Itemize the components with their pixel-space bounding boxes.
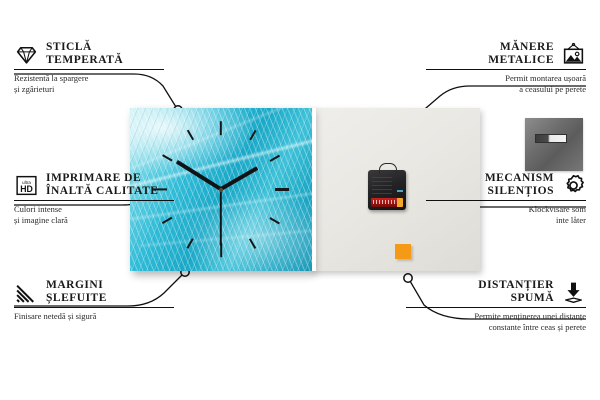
diamond-icon <box>14 42 39 67</box>
sub-line-1: Finisare netedă și sigură <box>14 311 96 321</box>
title-line-1: MĂNERE <box>500 41 554 53</box>
callout-rule <box>426 69 586 70</box>
callout-title: MARGINI ȘLEFUITE <box>46 279 107 305</box>
polished-edge-icon <box>14 280 39 305</box>
sub-line-2: și imagine clară <box>14 215 68 225</box>
clock-tick <box>220 121 222 135</box>
clock-tick <box>270 155 280 162</box>
title-line-2: ȘLEFUITE <box>46 292 107 304</box>
callout-hd-print: ultra HD IMPRIMARE DE ÎNALTĂ CALITATE Cu… <box>14 172 174 225</box>
sub-line-1: Culori intense <box>14 204 62 214</box>
sub-line-2: constante între ceas și perete <box>489 322 586 332</box>
callout-title: MĂNERE METALICE <box>488 41 554 67</box>
callout-polished-edges: MARGINI ȘLEFUITE Finisare netedă și sigu… <box>14 279 174 322</box>
sub-line-1: Klockvisare som <box>529 204 586 214</box>
clock-hour-hand <box>220 167 258 192</box>
infographic-canvas: STICLĂ TEMPERATĂ Rezistentă la spargere … <box>0 0 600 400</box>
sub-line-2: și zgârieturi <box>14 84 54 94</box>
callout-tempered-glass: STICLĂ TEMPERATĂ Rezistentă la spargere … <box>14 41 164 94</box>
clock-hub <box>219 188 223 192</box>
title-line-2: ÎNALTĂ CALITATE <box>46 185 158 197</box>
sub-line-1: Permit montarea ușoară <box>505 73 586 83</box>
svg-text:HD: HD <box>20 183 33 193</box>
callout-subtitle: Klockvisare som inte låter <box>426 204 586 225</box>
foam-spacer <box>395 244 411 259</box>
clock-tick <box>275 188 289 190</box>
clock-tick <box>249 130 256 140</box>
sub-line-1: Rezistentă la spargere <box>14 73 88 83</box>
callout-subtitle: Rezistentă la spargere și zgârieturi <box>14 73 164 94</box>
clock-tick <box>186 130 193 140</box>
callout-header: MARGINI ȘLEFUITE <box>14 279 174 305</box>
hanger-slot <box>535 134 567 143</box>
clock-second-hand <box>220 189 222 245</box>
title-line-1: STICLĂ <box>46 41 92 53</box>
gear-icon <box>561 173 586 198</box>
callout-subtitle: Finisare netedă și sigură <box>14 311 174 322</box>
callout-rule <box>14 200 174 201</box>
callout-title: MECANISM SILENȚIOS <box>485 172 554 198</box>
down-arrow-stack-icon <box>561 280 586 305</box>
callout-subtitle: Permite menținerea unei distanțe constan… <box>406 311 586 332</box>
title-line-2: SILENȚIOS <box>487 185 554 197</box>
callout-metal-handles: MĂNERE METALICE Permit montarea ușoară a… <box>426 41 586 94</box>
callout-silent-mechanism: MECANISM SILENȚIOS Klockvisare som inte … <box>426 172 586 225</box>
callout-header: ultra HD IMPRIMARE DE ÎNALTĂ CALITATE <box>14 172 174 198</box>
title-line-1: DISTANȚIER <box>478 279 554 291</box>
sub-line-2: inte låter <box>556 215 586 225</box>
callout-subtitle: Culori intense și imagine clară <box>14 204 174 225</box>
callout-subtitle: Permit montarea ușoară a ceasului pe per… <box>426 73 586 94</box>
callout-header: MECANISM SILENȚIOS <box>426 172 586 198</box>
callout-rule <box>14 69 164 70</box>
clock-tick <box>249 238 256 248</box>
sub-line-1: Permite menținerea unei distanțe <box>474 311 586 321</box>
clock-tick <box>186 238 193 248</box>
clock-tick <box>270 217 280 224</box>
callout-header: DISTANȚIER SPUMĂ <box>406 279 586 305</box>
battery <box>371 198 403 207</box>
callout-rule <box>426 200 586 201</box>
mechanism-ribs <box>372 176 392 194</box>
clock-tick <box>162 155 172 162</box>
clock-minute-hand <box>176 160 222 191</box>
title-line-2: SPUMĂ <box>511 292 554 304</box>
callout-header: MĂNERE METALICE <box>426 41 586 67</box>
ultra-hd-icon: ultra HD <box>14 173 39 198</box>
title-line-1: MECANISM <box>485 172 554 184</box>
mechanism-hanger-loop <box>379 163 397 174</box>
sub-line-2: a ceasului pe perete <box>519 84 586 94</box>
callout-header: STICLĂ TEMPERATĂ <box>14 41 164 67</box>
callout-rule <box>14 307 174 308</box>
callout-title: DISTANȚIER SPUMĂ <box>478 279 554 305</box>
title-line-2: METALICE <box>488 54 554 66</box>
silent-clock-mechanism <box>368 170 406 210</box>
callout-title: STICLĂ TEMPERATĂ <box>46 41 123 67</box>
battery-label <box>373 200 395 204</box>
mechanism-label <box>397 190 403 192</box>
callout-rule <box>406 307 586 308</box>
title-line-1: MARGINI <box>46 279 103 291</box>
battery-terminal <box>397 198 403 207</box>
callout-foam-spacer: DISTANȚIER SPUMĂ Permite menținerea unei… <box>406 279 586 332</box>
metal-hanger-plate <box>525 118 583 171</box>
callout-title: IMPRIMARE DE ÎNALTĂ CALITATE <box>46 172 158 198</box>
title-line-2: TEMPERATĂ <box>46 54 123 66</box>
panel-divider <box>312 108 316 271</box>
hanging-frame-icon <box>561 42 586 67</box>
title-line-1: IMPRIMARE DE <box>46 172 141 184</box>
